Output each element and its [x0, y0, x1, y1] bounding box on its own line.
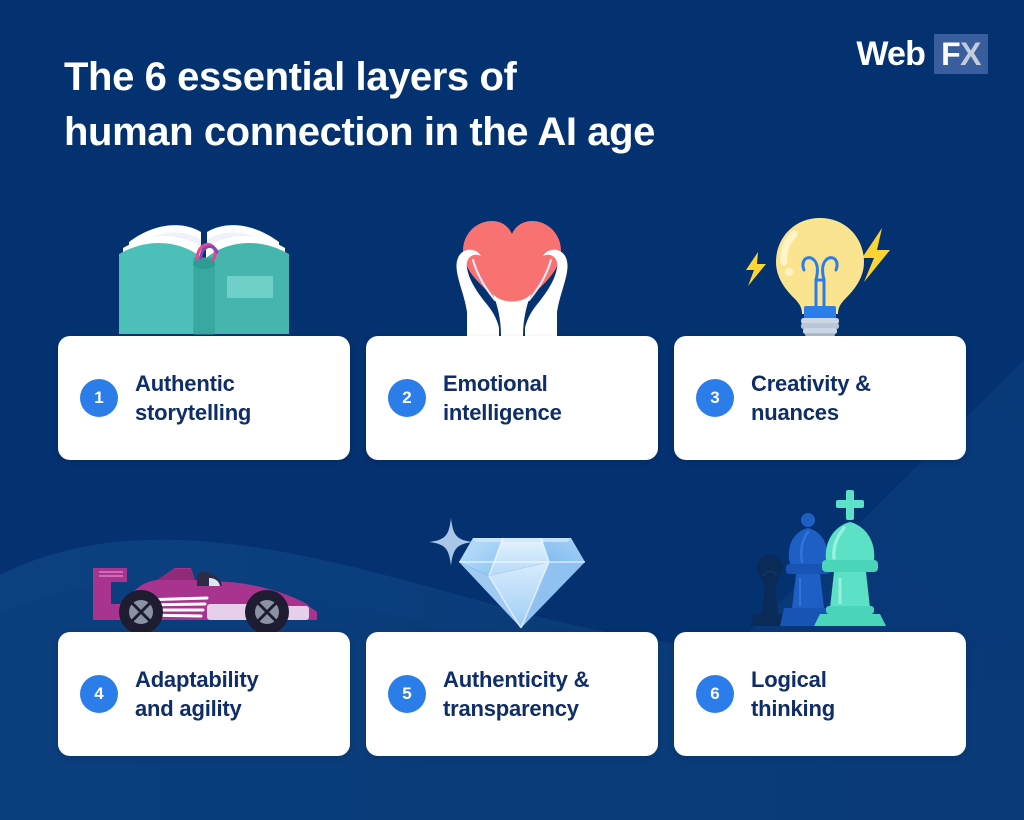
- item-1: 1 Authentic storytelling: [58, 220, 350, 460]
- card-4[interactable]: 4 Adaptability and agility: [58, 632, 350, 756]
- card-5[interactable]: 5 Authenticity & transparency: [366, 632, 658, 756]
- badge-number-3: 3: [696, 379, 734, 417]
- card-label-2: Emotional intelligence: [443, 369, 562, 427]
- page-title: The 6 essential layers of human connecti…: [64, 50, 824, 160]
- card-label-3: Creativity & nuances: [751, 369, 871, 427]
- logo-fx-box: F X: [934, 34, 988, 74]
- webfx-logo[interactable]: Web F X: [856, 33, 988, 75]
- item-4: 4 Adaptability and agility: [58, 516, 350, 756]
- icon-heart-in-hands-stage: [366, 216, 658, 336]
- item-6: 6 Logical thinking: [674, 516, 966, 756]
- logo-f-text: F: [941, 38, 960, 70]
- badge-number-4: 4: [80, 675, 118, 713]
- open-book-icon: [111, 214, 297, 336]
- icon-chess-pieces-stage: [674, 512, 966, 632]
- badge-number-5: 5: [388, 675, 426, 713]
- chess-pieces-icon: [740, 484, 900, 632]
- lightbulb-icon: [734, 210, 906, 336]
- heart-in-hands-icon: [437, 208, 587, 336]
- card-label-4: Adaptability and agility: [135, 665, 259, 723]
- logo-x-text: X: [960, 38, 981, 70]
- card-label-6: Logical thinking: [751, 665, 835, 723]
- card-label-1: Authentic storytelling: [135, 369, 251, 427]
- badge-number-2: 2: [388, 379, 426, 417]
- diamond-icon: [417, 492, 607, 632]
- card-label-5: Authenticity & transparency: [443, 665, 589, 723]
- items-row-bottom: 4 Adaptability and agility: [0, 516, 1024, 756]
- icon-race-car-stage: [58, 512, 350, 632]
- item-3: 3 Creativity & nuances: [674, 220, 966, 460]
- badge-number-1: 1: [80, 379, 118, 417]
- race-car-icon: [79, 542, 329, 632]
- header: The 6 essential layers of human connecti…: [0, 0, 1024, 190]
- items-row-top: 1 Authentic storytelling: [0, 220, 1024, 460]
- item-5: 5 Authenticity & transparency: [366, 516, 658, 756]
- icon-lightbulb-stage: [674, 216, 966, 336]
- badge-number-6: 6: [696, 675, 734, 713]
- icon-diamond-stage: [366, 512, 658, 632]
- item-2: 2 Emotional intelligence: [366, 220, 658, 460]
- logo-web-text: Web: [856, 37, 934, 71]
- icon-open-book-stage: [58, 216, 350, 336]
- card-1[interactable]: 1 Authentic storytelling: [58, 336, 350, 460]
- infographic-canvas: The 6 essential layers of human connecti…: [0, 0, 1024, 820]
- card-2[interactable]: 2 Emotional intelligence: [366, 336, 658, 460]
- card-3[interactable]: 3 Creativity & nuances: [674, 336, 966, 460]
- card-6[interactable]: 6 Logical thinking: [674, 632, 966, 756]
